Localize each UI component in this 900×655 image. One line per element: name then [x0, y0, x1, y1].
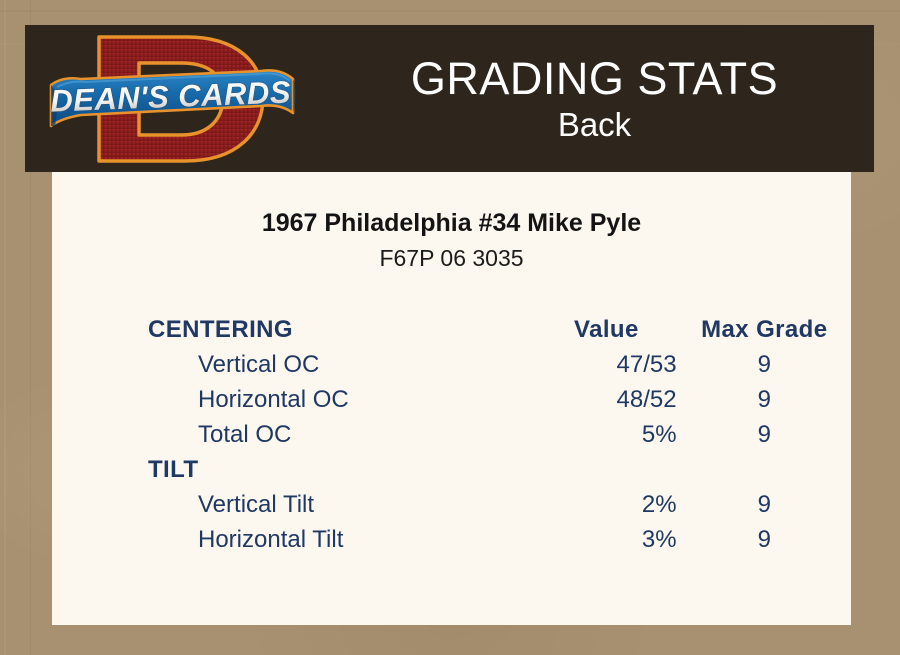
row-value: 48/52 — [522, 382, 690, 417]
table-row: Vertical OC 47/53 9 — [148, 347, 838, 382]
section-title-tilt: TILT — [148, 452, 522, 487]
deans-cards-logo: DEAN'S CARDS — [47, 29, 302, 171]
column-header-value: Value — [522, 312, 690, 347]
content-panel: 1967 Philadelphia #34 Mike Pyle F67P 06 … — [52, 172, 851, 625]
section-header-tilt: TILT — [148, 452, 838, 487]
card-title: 1967 Philadelphia #34 Mike Pyle — [52, 209, 851, 238]
row-max-grade: 9 — [691, 347, 838, 382]
section-header-centering: CENTERING Value Max Grade — [148, 312, 838, 347]
page-title: GRADING STATS — [411, 53, 778, 105]
row-label: Horizontal Tilt — [148, 522, 522, 557]
row-value: 2% — [522, 487, 690, 522]
table-row: Horizontal OC 48/52 9 — [148, 382, 838, 417]
table-row: Vertical Tilt 2% 9 — [148, 487, 838, 522]
row-label: Vertical Tilt — [148, 487, 522, 522]
row-value: 47/53 — [522, 347, 690, 382]
row-value: 5% — [522, 417, 690, 452]
header-text-block: GRADING STATS Back — [315, 25, 874, 172]
grading-stats-page: DEAN'S CARDS GRADING STATS Back 1967 Phi… — [0, 0, 900, 655]
row-max-grade: 9 — [691, 417, 838, 452]
row-max-grade: 9 — [691, 487, 838, 522]
row-max-grade: 9 — [691, 522, 838, 557]
stats-table-body: CENTERING Value Max Grade Vertical OC 47… — [148, 312, 838, 557]
table-row: Horizontal Tilt 3% 9 — [148, 522, 838, 557]
row-max-grade: 9 — [691, 382, 838, 417]
grading-stats-table: CENTERING Value Max Grade Vertical OC 47… — [148, 312, 838, 557]
column-header-max-grade: Max Grade — [691, 312, 838, 347]
page-subtitle: Back — [558, 105, 631, 145]
logo-artwork: DEAN'S CARDS — [47, 29, 302, 171]
card-identifier: F67P 06 3035 — [52, 245, 851, 272]
header-bar: DEAN'S CARDS GRADING STATS Back — [25, 25, 874, 172]
table-row: Total OC 5% 9 — [148, 417, 838, 452]
row-value: 3% — [522, 522, 690, 557]
section-tilt-grade-spacer — [691, 452, 838, 487]
row-label: Vertical OC — [148, 347, 522, 382]
row-label: Total OC — [148, 417, 522, 452]
row-label: Horizontal OC — [148, 382, 522, 417]
section-tilt-value-spacer — [522, 452, 690, 487]
section-title-centering: CENTERING — [148, 312, 522, 347]
